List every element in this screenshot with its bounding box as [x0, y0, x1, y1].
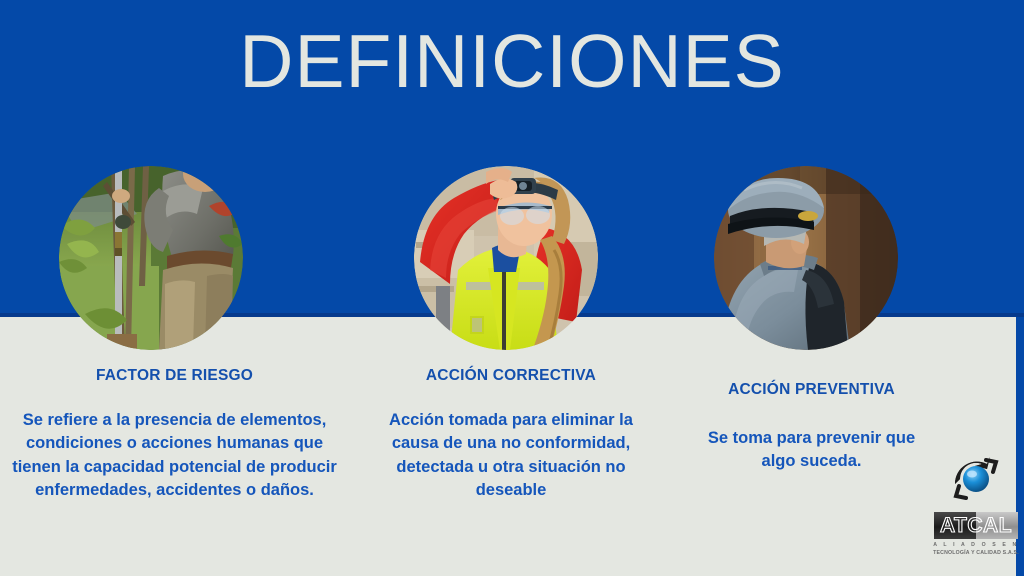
- column-accion-preventiva: ACCIÓN PREVENTIVA Se toma para prevenir …: [694, 380, 929, 474]
- cycle-arrows-sphere-icon: [932, 450, 1020, 512]
- photo-circle-accion-preventiva: [714, 166, 898, 350]
- logo-tagline-aliados-en: A L I A D O S E N: [932, 542, 1020, 548]
- column-body-3: Se toma para prevenir que algo suceda.: [694, 427, 929, 474]
- column-heading-3: ACCIÓN PREVENTIVA: [694, 380, 929, 401]
- photo-circle-factor-de-riesgo: [59, 166, 243, 350]
- column-accion-correctiva: ACCIÓN CORRECTIVA Acción tomada para eli…: [368, 366, 654, 503]
- page-title: DEFINICIONES: [0, 22, 1024, 101]
- column-factor-de-riesgo: FACTOR DE RIESGO Se refiere a la presenc…: [12, 366, 337, 503]
- column-body-2: Acción tomada para eliminar la causa de …: [368, 409, 654, 503]
- atcal-wordmark-text: ATCAL: [934, 512, 1018, 539]
- column-heading-2: ACCIÓN CORRECTIVA: [368, 366, 654, 387]
- logo-tagline-tecnologia: TECNOLOGÍA Y CALIDAD S.A.S.: [932, 550, 1020, 556]
- atcal-wordmark: ATCAL: [934, 512, 1018, 539]
- slide-definiciones: DEFINICIONES: [0, 0, 1024, 576]
- photo-circle-accion-correctiva: [414, 166, 598, 350]
- column-heading-1: FACTOR DE RIESGO: [12, 366, 337, 387]
- column-body-1: Se refiere a la presencia de elementos, …: [12, 409, 337, 503]
- atcal-logo: ATCAL A L I A D O S E N TECNOLOGÍA Y CAL…: [932, 450, 1020, 566]
